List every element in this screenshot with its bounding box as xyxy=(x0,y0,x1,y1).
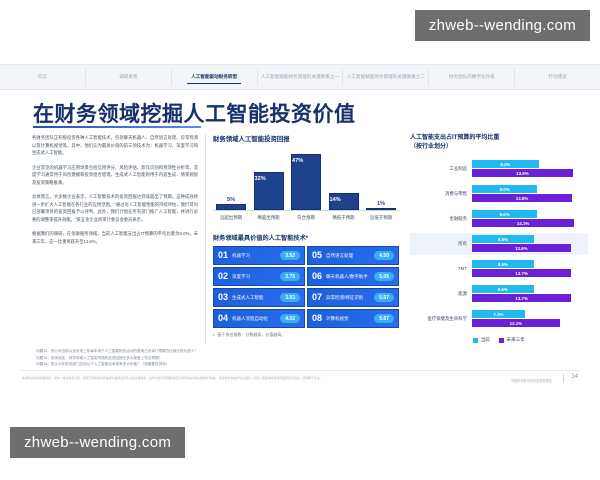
tech-item-label: 生成式人工智能 xyxy=(232,295,280,300)
tech-item-number: 03 xyxy=(218,293,228,302)
spend-bar-chart: 工业制造9.2%13.9%消费与零售9.0%13.8%金融服务9.0%14.1%… xyxy=(410,158,588,330)
roi-bar-3: 14% xyxy=(329,193,359,210)
roi-bar-rect-3: 14% xyxy=(329,193,359,210)
tech-list-title: 财务领域最具价值的人工智能技术* xyxy=(213,233,399,242)
middle-panel: 财务领域人工智能投资回报 5%32%47%14%1% 远超出预期略超出预期符合预… xyxy=(213,134,399,338)
roi-bar-axis-labels: 远超出预期略超出预期符合预期略低于预期远低于预期 xyxy=(213,215,399,220)
survey-questions-footnote: 问题15：贵公司当前以及未来三年每年用于人工智能相关活动的费用占总体IT预算的比… xyxy=(36,348,406,368)
nav-item-6[interactable]: 行动建议 xyxy=(515,68,600,86)
spend-chart-title-line2: （按行业划分） xyxy=(410,143,588,152)
roi-bar-rect-0 xyxy=(216,204,246,210)
spend-row-4: TMT8.5%13.7% xyxy=(410,258,588,280)
roi-bar-rect-4 xyxy=(366,208,396,210)
tech-item-04[interactable]: 04机器人流程自动化4.02 xyxy=(213,309,305,328)
column-divider xyxy=(205,134,206,344)
tech-list[interactable]: 01机器学习3.5205自然语言处理4.5002深度学习3.7506聊天机器人/… xyxy=(213,246,399,328)
page-number: 14 xyxy=(571,374,578,380)
roi-bar-2: 47% xyxy=(291,154,321,210)
footnote-q16: 问题16：总体而言，财务领域人工智能举措的投资回报在多大程度上符合预期？ xyxy=(36,355,406,362)
spend-row-label: 金融服务 xyxy=(410,216,472,221)
tech-item-label: 聊天机器人/数字助手 xyxy=(326,274,374,279)
tech-item-number: 07 xyxy=(312,293,322,302)
tech-item-score: 3.93 xyxy=(280,293,300,302)
section-navbar[interactable]: 引言调研发现人工智能驱动财务转型人工智能赋能财务管理的关键要素之一人工智能赋能财… xyxy=(0,64,600,90)
spend-chart-title: 人工智能支出占IT预算的平均比重 （按行业划分） xyxy=(410,134,588,152)
tech-item-07[interactable]: 07异常检测/特征识别5.57 xyxy=(307,288,399,307)
tech-footnote: • 基于排名指数：分数越高，价值越高。 xyxy=(213,332,399,338)
tech-item-label: 自然语言处理 xyxy=(326,253,374,258)
tech-footnote-text: 基于排名指数：分数越高，价值越高。 xyxy=(217,332,285,338)
spend-bar-当前: 7.3% xyxy=(472,310,525,318)
spend-row-bars: 8.6%13.6% xyxy=(472,235,588,253)
spend-bar-未来三年: 13.7% xyxy=(472,269,571,277)
spend-row-bars: 9.0%13.8% xyxy=(472,185,588,203)
bullet-icon: • xyxy=(213,332,214,338)
page-number-divider xyxy=(563,374,564,383)
spend-chart-title-line1: 人工智能支出占IT预算的平均比重 xyxy=(410,134,588,143)
roi-bar-chart: 5%32%47%14%1% xyxy=(213,149,399,211)
spend-row-5: 能源8.5%13.7% xyxy=(410,283,588,305)
spend-bar-未来三年: 13.9% xyxy=(472,169,573,177)
footnote-q15: 问题15：贵公司当前以及未来三年每年用于人工智能相关活动的费用占总体IT预算的比… xyxy=(36,348,406,355)
spend-row-label: TMT xyxy=(410,266,472,271)
roi-bar-value-3: 14% xyxy=(330,197,341,203)
tech-item-number: 06 xyxy=(312,272,322,281)
tech-item-label: 计算机视觉 xyxy=(326,316,374,321)
spend-row-label: 消费与零售 xyxy=(410,191,472,196)
spend-bar-当前: 9.0% xyxy=(472,210,537,218)
tech-item-score: 3.52 xyxy=(280,251,300,260)
tech-item-label: 深度学习 xyxy=(232,274,280,279)
tech-item-number: 02 xyxy=(218,272,228,281)
legend-label: 未来三年 xyxy=(506,337,524,343)
tech-item-score: 5.05 xyxy=(374,272,394,281)
tech-item-number: 08 xyxy=(312,314,322,323)
spend-row-label: 能源 xyxy=(410,291,472,296)
tech-item-score: 5.57 xyxy=(374,293,394,302)
tech-item-label: 机器人流程自动化 xyxy=(232,316,280,321)
tech-item-01[interactable]: 01机器学习3.52 xyxy=(213,246,305,265)
nav-item-1[interactable]: 调研发现 xyxy=(86,68,172,86)
footer-divider xyxy=(20,370,580,371)
slide-page: 引言调研发现人工智能驱动财务转型人工智能赋能财务管理的关键要素之一人工智能赋能财… xyxy=(0,0,600,480)
page-title: 在财务领域挖掘人工智能投资价值 xyxy=(33,98,356,128)
spend-bar-当前: 8.6% xyxy=(472,235,534,243)
nav-item-0[interactable]: 引言 xyxy=(0,68,86,86)
spend-row-label: 医疗保健及生命科学 xyxy=(410,316,472,321)
legend-swatch-icon xyxy=(473,338,478,343)
roi-bar-value-0: 5% xyxy=(227,197,235,203)
spend-bar-未来三年: 13.6% xyxy=(472,244,571,252)
roi-category-0: 远超出预期 xyxy=(216,215,246,220)
nav-item-5[interactable]: 财务团队的数字化升级 xyxy=(429,68,515,86)
legend-item-0: 当前 xyxy=(473,337,490,343)
right-panel: 人工智能支出占IT预算的平均比重 （按行业划分） 工业制造9.2%13.9%消费… xyxy=(410,134,588,343)
roi-category-3: 略低于预期 xyxy=(329,215,359,220)
spend-bar-未来三年: 13.7% xyxy=(472,294,571,302)
spend-row-0: 工业制造9.2%13.9% xyxy=(410,158,588,180)
spend-bar-未来三年: 12.1% xyxy=(472,319,560,327)
spend-row-bars: 9.2%13.9% xyxy=(472,160,588,178)
spend-bar-当前: 9.0% xyxy=(472,185,537,193)
spend-row-label: 工业制造 xyxy=(410,166,472,171)
footer-disclaimer: 本资料由德勤中国提供，仅供一般性参考之用。德勤不因本资料而被视为提供任何专业建议… xyxy=(22,376,382,381)
tech-item-number: 04 xyxy=(218,314,228,323)
spend-row-bars: 8.5%13.7% xyxy=(472,285,588,303)
title-underline xyxy=(33,126,201,128)
tech-item-05[interactable]: 05自然语言处理4.50 xyxy=(307,246,399,265)
roi-category-2: 符合预期 xyxy=(291,215,321,220)
tech-item-score: 4.50 xyxy=(374,251,394,260)
body-paragraph-2: 总体而言，大多数企业表示，人工智能技术的投资回报达到或超出了预期。这种成效将进一… xyxy=(32,193,198,223)
roi-bar-value-1: 32% xyxy=(255,176,266,182)
footnote-q18: 问题18：您认为在财务部门应用以下人工智能技术将有多大价值？（按重要性排序） xyxy=(36,361,406,368)
roi-bar-rect-2: 47% xyxy=(291,154,321,210)
spend-bar-当前: 8.5% xyxy=(472,260,534,268)
roi-category-4: 远低于预期 xyxy=(366,215,396,220)
tech-item-score: 5.67 xyxy=(374,314,394,323)
tech-item-02[interactable]: 02深度学习3.75 xyxy=(213,267,305,286)
spend-row-bars: 7.3%12.1% xyxy=(472,310,588,328)
roi-bar-1: 32% xyxy=(254,172,284,210)
nav-item-2[interactable]: 人工智能驱动财务转型 xyxy=(172,68,258,86)
spend-bar-未来三年: 13.8% xyxy=(472,194,572,202)
roi-chart-title: 财务领域人工智能投资回报 xyxy=(213,134,399,143)
spend-row-3: 所有8.6%13.6% xyxy=(410,233,588,255)
body-paragraph-0: 各财务团队正积极投资各种人工智能技术，包括聊天机器人、自然语言处理、异常检测以及… xyxy=(32,134,198,157)
roi-bar-4: 1% xyxy=(366,201,396,210)
spend-bar-当前: 9.2% xyxy=(472,160,539,168)
spend-row-label: 所有 xyxy=(410,241,472,246)
roi-bar-value-2: 47% xyxy=(292,158,303,164)
tech-item-06[interactable]: 06聊天机器人/数字助手5.05 xyxy=(307,267,399,286)
roi-bar-value-4: 1% xyxy=(377,201,385,207)
spend-bar-未来三年: 14.1% xyxy=(472,219,574,227)
tech-item-08[interactable]: 08计算机视觉5.67 xyxy=(307,309,399,328)
legend-item-1: 未来三年 xyxy=(499,337,525,343)
spend-row-6: 医疗保健及生命科学7.3%12.1% xyxy=(410,308,588,330)
roi-category-1: 略超出预期 xyxy=(254,215,284,220)
legend-swatch-icon xyxy=(499,338,504,343)
tech-item-label: 机器学习 xyxy=(232,253,280,258)
watermark-top: zhweb--wending.com xyxy=(415,10,590,41)
legend-label: 当前 xyxy=(481,337,490,343)
tech-item-number: 05 xyxy=(312,251,322,260)
spend-row-bars: 8.5%13.7% xyxy=(472,260,588,278)
nav-item-4[interactable]: 人工智能赋能财务管理的关键要素之二 xyxy=(343,68,429,86)
spend-row-1: 消费与零售9.0%13.8% xyxy=(410,183,588,205)
tech-item-03[interactable]: 03生成式人工智能3.93 xyxy=(213,288,305,307)
tech-item-number: 01 xyxy=(218,251,228,260)
spend-row-bars: 9.0%14.1% xyxy=(472,210,588,228)
spend-row-2: 金融服务9.0%14.1% xyxy=(410,208,588,230)
footer-doc-title: 中国财务数字化转型趋势报告 xyxy=(511,378,552,383)
spend-chart-legend: 当前未来三年 xyxy=(410,337,588,343)
roi-bar-rect-1: 32% xyxy=(254,172,284,210)
tech-item-score: 4.02 xyxy=(280,314,300,323)
body-paragraph-1: 企业常见的机器学习应用场景包括信用评分、风险评估、欺诈识别和预测性分析等。深度学… xyxy=(32,164,198,187)
watermark-bottom: zhweb--wending.com xyxy=(10,427,185,458)
nav-item-3[interactable]: 人工智能赋能财务管理的关键要素之一 xyxy=(258,68,344,86)
tech-item-label: 异常检测/特征识别 xyxy=(326,295,374,300)
spend-bar-当前: 8.5% xyxy=(472,285,534,293)
tech-item-score: 3.75 xyxy=(280,272,300,281)
body-paragraph-3: 根据我们的调研，在金融服务领域，当前人工智能支出占IT预算的平均比重为9.0%，… xyxy=(32,230,198,245)
roi-bar-0: 5% xyxy=(216,197,246,210)
body-copy: 各财务团队正积极投资各种人工智能技术，包括聊天机器人、自然语言处理、异常检测以及… xyxy=(32,134,198,252)
